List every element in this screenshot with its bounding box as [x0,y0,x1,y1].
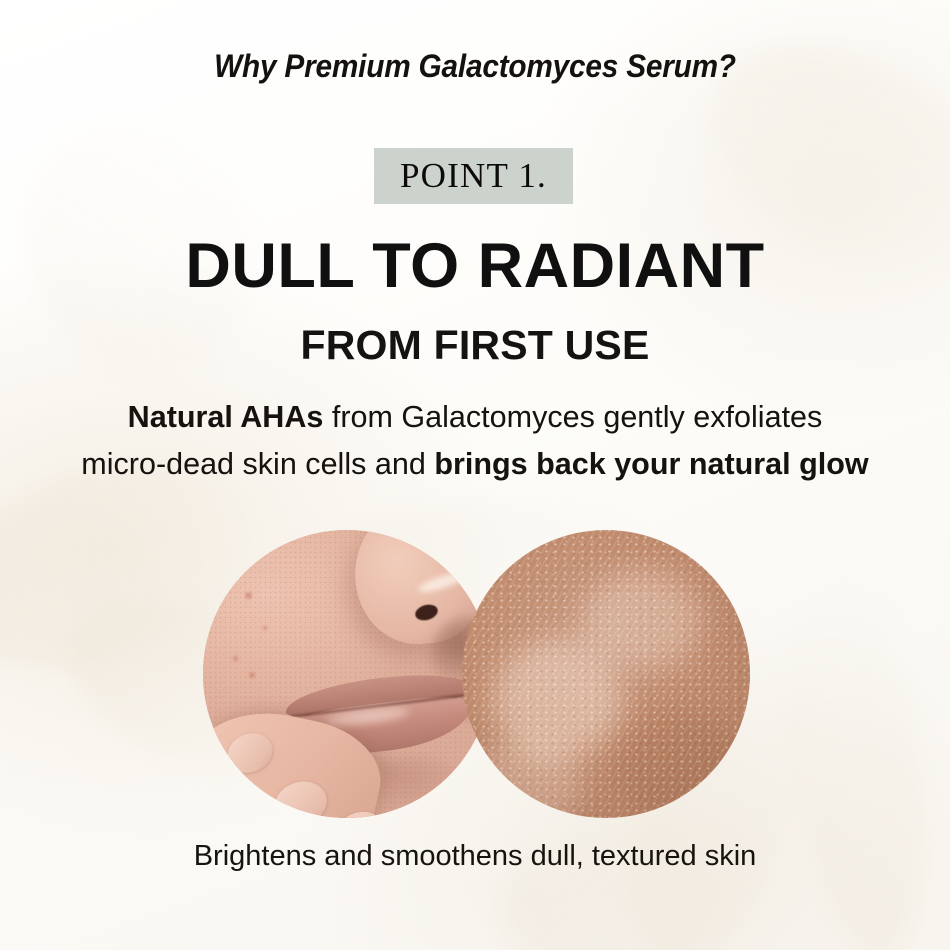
texture-vignette [462,530,750,818]
face-photo-circle [203,530,491,818]
before-after-photos [0,0,950,950]
face-photo-edge-fade [203,530,491,818]
promo-poster: Why Premium Galactomyces Serum? POINT 1.… [0,0,950,950]
photo-caption: Brightens and smoothens dull, textured s… [0,842,950,871]
texture-photo-circle [462,530,750,818]
